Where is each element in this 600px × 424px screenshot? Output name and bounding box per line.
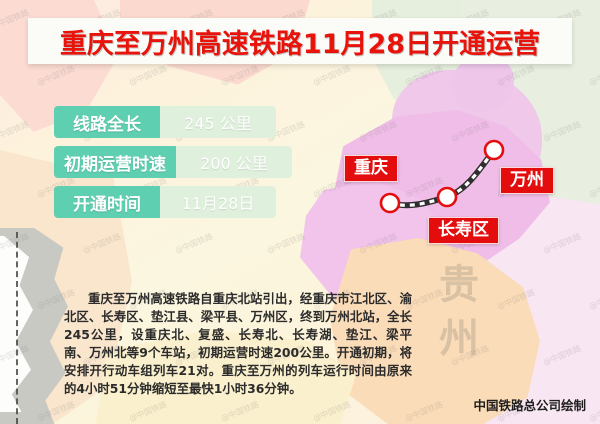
info-row: 初期运营时速 200 公里	[54, 146, 292, 178]
info-label-initial-speed: 初期运营时速	[54, 146, 176, 178]
info-value-initial-speed: 200 公里	[176, 146, 292, 178]
city-label-changshou: 长寿区	[428, 217, 499, 244]
title-banner: 重庆至万州高速铁路11月28日开通运营	[28, 18, 572, 64]
city-label-wanzhou: 万州	[500, 167, 554, 194]
attribution-text: 中国铁路总公司绘制	[473, 395, 586, 414]
info-row: 线路全长 245 公里	[54, 106, 292, 138]
info-panel: 线路全长 245 公里 初期运营时速 200 公里 开通时间 11月28日	[54, 106, 292, 226]
info-label-opening-date: 开通时间	[54, 186, 160, 218]
city-label-chongqing: 重庆	[344, 155, 398, 182]
province-ghost-label: 贵州	[424, 258, 496, 366]
info-row: 开通时间 11月28日	[54, 186, 292, 218]
page-title: 重庆至万州高速铁路11月28日开通运营	[60, 22, 540, 61]
info-label-line-length: 线路全长	[54, 106, 160, 138]
info-value-line-length: 245 公里	[160, 106, 276, 138]
info-value-opening-date: 11月28日	[160, 186, 276, 218]
body-paragraph: 重庆至万州高速铁路自重庆北站引出，经重庆市江北区、渝北区、长寿区、垫江县、梁平县…	[64, 290, 412, 398]
infographic-poster: 贵州 @中国铁路@中国铁路@中国铁路@中国铁路@中国铁路@中国铁路@中国铁路@中…	[0, 0, 600, 424]
